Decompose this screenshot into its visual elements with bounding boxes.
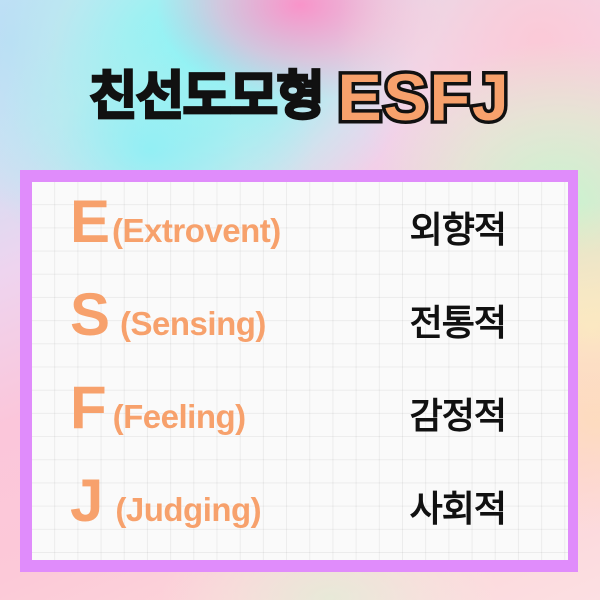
- trait-word: (Feeling): [113, 400, 246, 433]
- trait-word: (Extrovent): [112, 214, 281, 247]
- trait-word: (Sensing): [120, 307, 266, 340]
- trait-card: E (Extrovent) 외향적 S (Sensing) 전통적 F (Fee…: [20, 170, 578, 572]
- trait-meaning: 감정적: [410, 398, 506, 434]
- trait-meaning: 사회적: [410, 491, 506, 527]
- trait-row: E (Extrovent) 외향적: [32, 192, 568, 278]
- trait-word: (Judging): [115, 493, 261, 526]
- mbti-poster: 친선도모형 ESFJ E (Extrovent) 외향적 S (Sensing)…: [0, 0, 600, 600]
- grid-paper-surface: E (Extrovent) 외향적 S (Sensing) 전통적 F (Fee…: [32, 182, 568, 560]
- trait-letter: E: [70, 192, 110, 252]
- trait-meaning: 전통적: [410, 305, 506, 341]
- trait-letter: F: [70, 378, 107, 438]
- title-mbti-type: ESFJ: [338, 64, 511, 130]
- title-korean-label: 친선도모형: [89, 71, 323, 123]
- trait-row: S (Sensing) 전통적: [32, 285, 568, 371]
- poster-title: 친선도모형 ESFJ: [0, 54, 600, 140]
- trait-letter: J: [70, 471, 103, 531]
- trait-row: J (Judging) 사회적: [32, 471, 568, 557]
- trait-meaning: 외향적: [410, 212, 506, 248]
- trait-letter: S: [70, 285, 110, 345]
- trait-row: F (Feeling) 감정적: [32, 378, 568, 464]
